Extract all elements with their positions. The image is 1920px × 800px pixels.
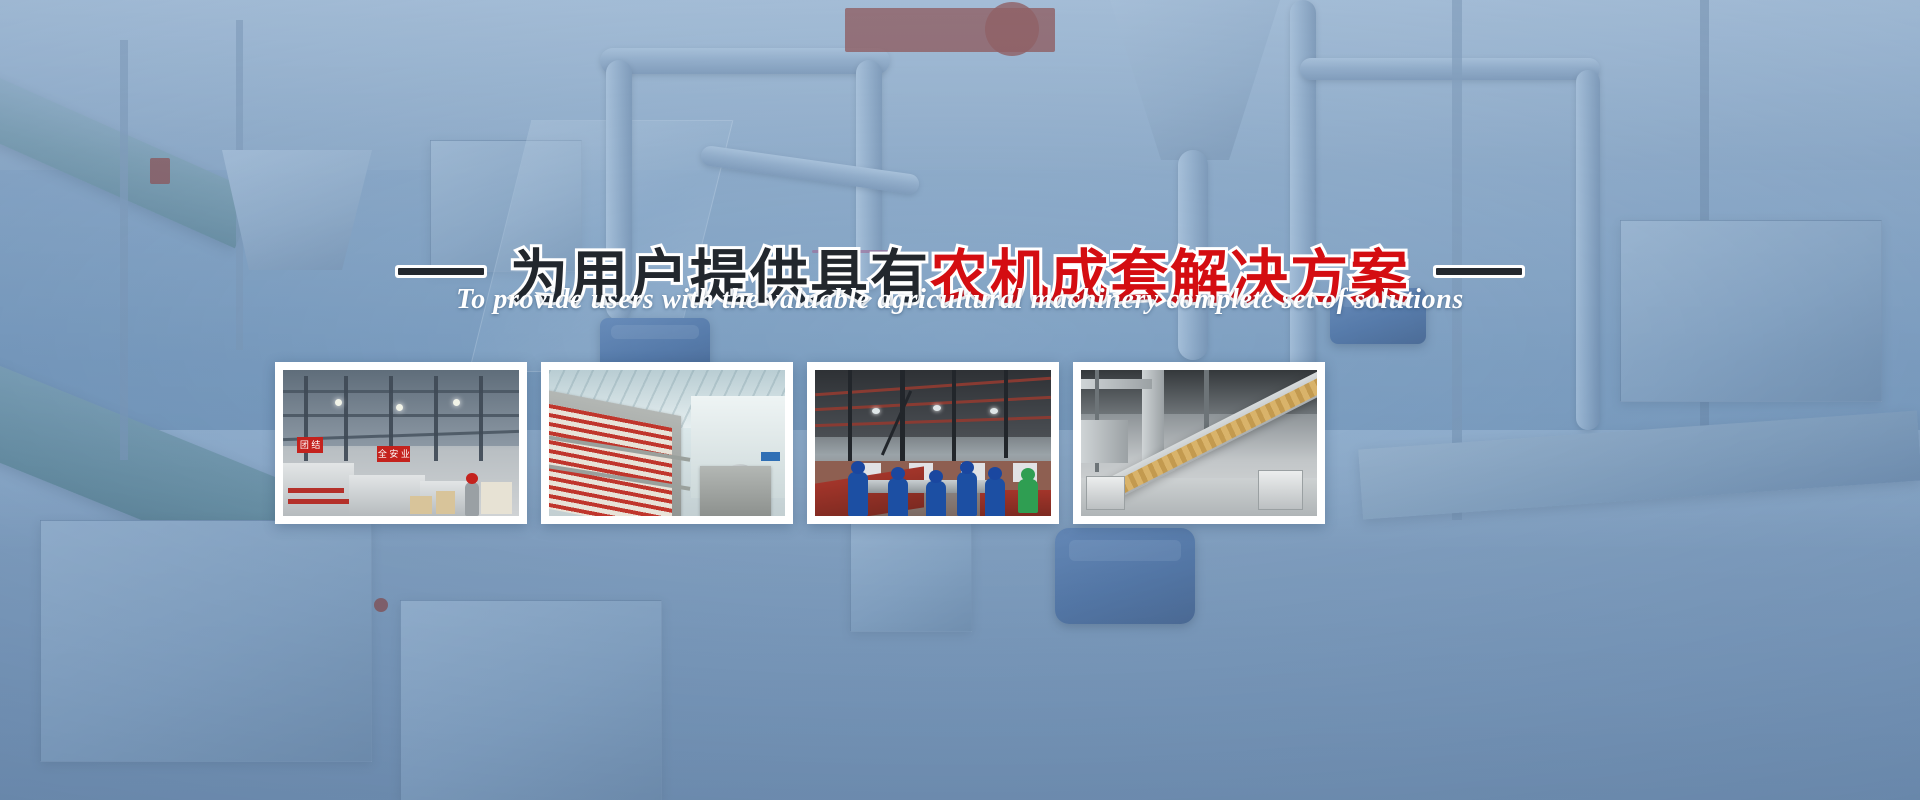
thumbnail-3-image xyxy=(815,370,1051,516)
t3-col-3 xyxy=(952,370,956,461)
thumbnail-4-image xyxy=(1081,370,1317,516)
t1-crate-1 xyxy=(410,496,431,514)
t1-banner-1: 团 结 xyxy=(297,437,323,453)
t3-col-1 xyxy=(848,370,852,461)
t4-machine-left xyxy=(1081,420,1128,464)
t3-lamp-1 xyxy=(872,408,880,414)
thumbnail-1-image: 团 结 全 安 业 xyxy=(283,370,519,516)
t1-col-2 xyxy=(344,376,348,461)
thumbnail-strip: 团 结 全 安 业 xyxy=(275,362,1325,524)
thumbnail-3[interactable] xyxy=(807,362,1059,524)
t2-frame-right xyxy=(700,466,771,516)
t3-worker-5 xyxy=(985,478,1005,516)
t3-lamp-2 xyxy=(933,405,941,411)
t3-worker-1 xyxy=(848,472,868,516)
t1-banner-2-text: 全 安 业 xyxy=(377,446,410,462)
headline-rule-right xyxy=(1436,268,1522,275)
thumbnail-1[interactable]: 团 结 全 安 业 xyxy=(275,362,527,524)
t1-tray-1 xyxy=(288,488,345,493)
t1-lamp-2 xyxy=(396,404,403,411)
t2-blue-panel xyxy=(761,452,780,461)
t1-truss-2 xyxy=(283,414,519,417)
t4-bin-1 xyxy=(1086,476,1126,510)
t3-worker-2 xyxy=(888,478,908,516)
t3-worker-3 xyxy=(926,481,946,516)
t1-banner-1-text: 团 结 xyxy=(297,437,323,453)
t3-worker-4 xyxy=(957,472,977,516)
t3-worker-6 xyxy=(1018,479,1038,513)
banner-content: 为用户提供具有农机成套解决方案 To provide users with th… xyxy=(0,0,1920,800)
t3-col-4 xyxy=(1004,370,1008,458)
t1-banner-2: 全 安 业 xyxy=(377,446,410,462)
thumbnail-2[interactable] xyxy=(541,362,793,524)
t1-col-5 xyxy=(479,376,483,461)
t1-truss-1 xyxy=(283,390,519,393)
thumbnail-2-image xyxy=(549,370,785,516)
thumbnail-4[interactable] xyxy=(1073,362,1325,524)
t1-crate-2 xyxy=(436,491,455,514)
t1-tray-2 xyxy=(288,499,349,504)
t4-bin-2 xyxy=(1258,470,1302,510)
t1-crate-3 xyxy=(481,482,512,514)
headline-rule-left xyxy=(398,268,484,275)
t1-worker xyxy=(465,482,479,516)
t4-duct-horizontal xyxy=(1081,379,1152,389)
t1-col-4 xyxy=(434,376,438,461)
t3-lamp-3 xyxy=(990,408,998,414)
hero-banner: 为用户提供具有农机成套解决方案 To provide users with th… xyxy=(0,0,1920,800)
page-subtitle: To provide users with the valuable agric… xyxy=(0,284,1920,316)
